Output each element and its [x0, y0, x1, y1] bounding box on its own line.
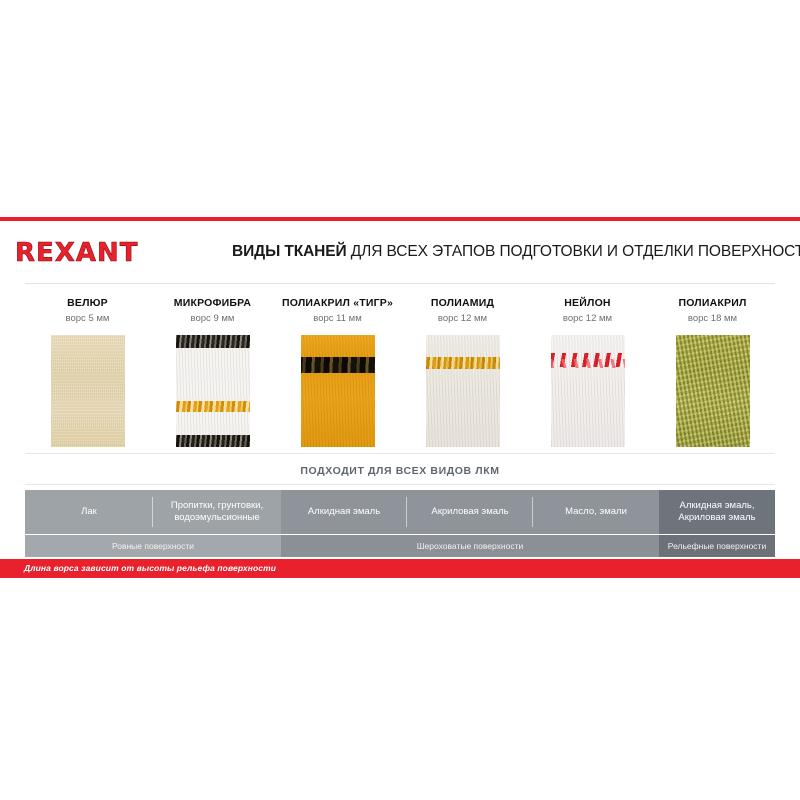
paint-type-cell-3: Алкидная эмаль [281, 490, 407, 534]
paint-type-cell-6: Алкидная эмаль, Акриловая эмаль [659, 490, 775, 534]
fabric-pile: ворс 9 мм [191, 313, 235, 325]
paint-type-cell-5: Масло, эмали [533, 490, 659, 534]
surface-type-row: Ровные поверхности Шероховатые поверхнос… [25, 535, 775, 557]
fabric-column-polyacryl: ПОЛИАКРИЛ ворс 18 мм [650, 297, 775, 447]
fabric-column-polyamide: ПОЛИАМИД ворс 12 мм [400, 297, 525, 447]
compatibility-table: Лак Пропитки, грунтовки, водоэмульсионны… [25, 490, 775, 557]
header: REXANT ВИДЫ ТКАНЕЙ ДЛЯ ВСЕХ ЭТАПОВ ПОДГО… [0, 235, 800, 271]
fabric-column-microfibre: МИКРОФИБРА ворс 9 мм [150, 297, 275, 447]
fabric-columns: ВЕЛЮР ворс 5 мм МИКРОФИБРА ворс 9 мм ПОЛ… [25, 297, 775, 447]
fabric-swatch-velour [51, 335, 125, 447]
fabric-swatch-tiger [301, 335, 375, 447]
fabric-swatch-microfibre [176, 335, 250, 447]
top-red-rule [0, 217, 800, 221]
fabric-name: ПОЛИАМИД [431, 297, 494, 310]
section-divider-bottom [25, 484, 775, 485]
footer-note: Длина ворса зависит от высоты рельефа по… [24, 563, 276, 573]
fabric-pile: ворс 12 мм [563, 313, 612, 325]
fabric-pile: ворс 5 мм [66, 313, 110, 325]
fabric-swatch-polyamide [426, 335, 500, 447]
page-title: ВИДЫ ТКАНЕЙ ДЛЯ ВСЕХ ЭТАПОВ ПОДГОТОВКИ И… [232, 243, 788, 261]
surface-cell-even: Ровные поверхности [25, 535, 281, 557]
surface-cell-rough: Шероховатые поверхности [281, 535, 659, 557]
paint-type-cell-1: Лак [25, 490, 153, 534]
page-title-strong: ВИДЫ ТКАНЕЙ [232, 243, 347, 260]
lkm-caption: ПОДХОДИТ ДЛЯ ВСЕХ ВИДОВ ЛКМ [0, 465, 800, 477]
fabric-column-tiger: ПОЛИАКРИЛ «ТИГР» ворс 11 мм [275, 297, 400, 447]
fabric-column-nylon: НЕЙЛОН ворс 12 мм [525, 297, 650, 447]
fabric-pile: ворс 12 мм [438, 313, 487, 325]
paint-type-cell-4: Акриловая эмаль [407, 490, 533, 534]
fabric-swatch-polyacryl [676, 335, 750, 447]
fabric-name: ПОЛИАКРИЛ «ТИГР» [282, 297, 393, 310]
fabric-name: НЕЙЛОН [564, 297, 610, 310]
surface-cell-relief: Рельефные поверхности [659, 535, 775, 557]
fabric-pile: ворс 18 мм [688, 313, 737, 325]
infographic-sheet: REXANT ВИДЫ ТКАНЕЙ ДЛЯ ВСЕХ ЭТАПОВ ПОДГО… [0, 0, 800, 800]
paint-type-row: Лак Пропитки, грунтовки, водоэмульсионны… [25, 490, 775, 534]
fabric-swatch-nylon [551, 335, 625, 447]
fabric-pile: ворс 11 мм [313, 313, 361, 325]
fabric-column-velour: ВЕЛЮР ворс 5 мм [25, 297, 150, 447]
footer-red-bar: Длина ворса зависит от высоты рельефа по… [0, 559, 800, 578]
rexant-logo: REXANT [15, 238, 138, 268]
page-title-light: ДЛЯ ВСЕХ ЭТАПОВ ПОДГОТОВКИ И ОТДЕЛКИ ПОВ… [347, 243, 800, 260]
header-divider [25, 283, 775, 284]
paint-type-cell-2: Пропитки, грунтовки, водоэмульсионные [153, 490, 281, 534]
fabric-name: МИКРОФИБРА [174, 297, 251, 310]
section-divider-top [25, 453, 775, 454]
fabric-name: ПОЛИАКРИЛ [678, 297, 746, 310]
fabric-name: ВЕЛЮР [67, 297, 108, 310]
